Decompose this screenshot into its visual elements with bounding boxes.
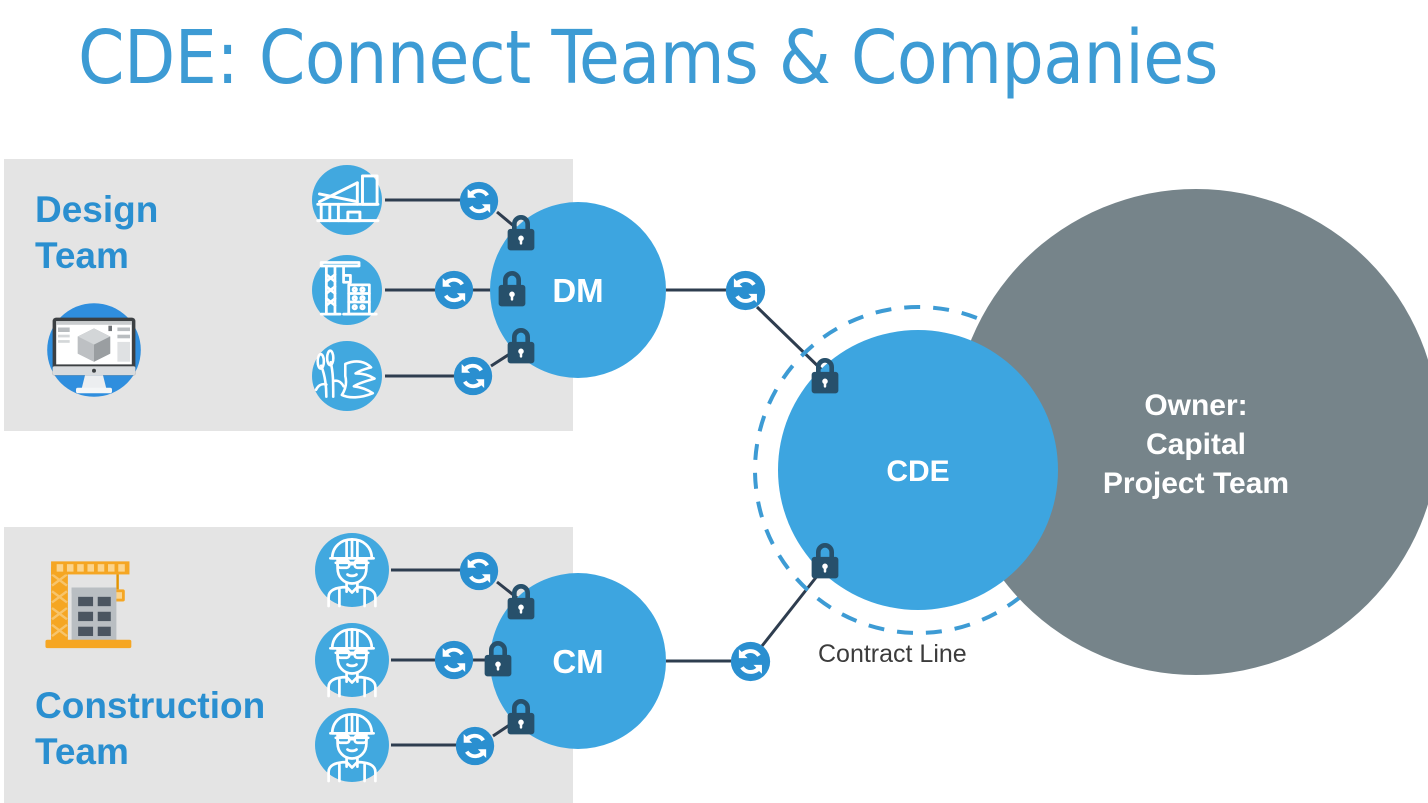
construction-trade-2[interactable] xyxy=(315,623,389,697)
owner-label-line3: Project Team xyxy=(1103,467,1289,500)
sync-icon[interactable] xyxy=(460,552,498,590)
design-manager-label: DM xyxy=(552,272,603,309)
slide-canvas: CDE: Connect Teams & Companies Design Te… xyxy=(0,0,1428,803)
construction-manager-label: CM xyxy=(552,643,603,680)
connector-line xyxy=(757,307,825,373)
sync-icon[interactable] xyxy=(456,727,494,765)
design-team-label-line2: Team xyxy=(35,235,129,276)
page-title: CDE: Connect Teams & Companies xyxy=(78,15,1218,101)
sync-icon[interactable] xyxy=(454,357,492,395)
sync-icon[interactable] xyxy=(726,271,765,310)
contract-line-label: Contract Line xyxy=(818,640,967,668)
construction-team-label-line2: Team xyxy=(35,731,129,772)
panel-design-team: Design Team DM xyxy=(4,159,666,431)
structural-discipline[interactable] xyxy=(312,255,382,325)
construction-team-label-line1: Construction xyxy=(35,685,265,726)
sync-icon[interactable] xyxy=(435,641,473,679)
cde-label: CDE xyxy=(886,455,949,488)
construction-trade-3[interactable] xyxy=(315,708,389,782)
cad-monitor-icon xyxy=(47,303,141,397)
sync-icon[interactable] xyxy=(435,271,473,309)
owner-label-line1: Owner: xyxy=(1144,389,1247,422)
design-team-label-line1: Design xyxy=(35,189,158,230)
owner-label-line2: Capital xyxy=(1146,428,1246,461)
panel-construction-team: Construction Team CM xyxy=(4,527,666,803)
civil-discipline[interactable] xyxy=(312,341,382,411)
construction-trade-1[interactable] xyxy=(315,533,389,607)
sync-icon[interactable] xyxy=(460,182,498,220)
sync-icon[interactable] xyxy=(731,642,770,681)
architecture-discipline[interactable] xyxy=(312,165,382,235)
